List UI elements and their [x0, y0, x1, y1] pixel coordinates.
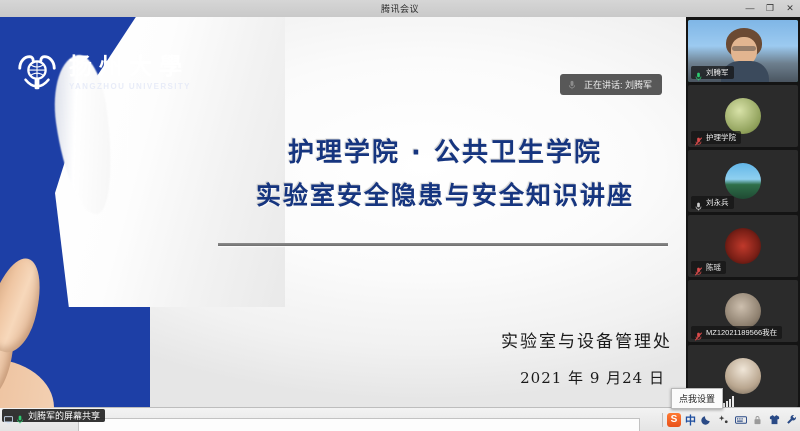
participant-name-badge: 刘永兵 [691, 196, 734, 209]
moon-icon[interactable] [700, 413, 713, 426]
participant-name: 陈瑶 [706, 262, 721, 273]
shared-screen-area[interactable]: 扬州大學 YANGZHOU UNIVERSITY 护理学院 · 公共卫生学院 实… [0, 17, 686, 408]
shirt-icon[interactable] [768, 413, 781, 426]
participant-name: 刘永兵 [706, 197, 729, 208]
microphone-icon [16, 411, 25, 420]
background-window-edge [78, 418, 640, 431]
maximize-button[interactable]: ❐ [760, 0, 780, 17]
os-taskbar[interactable]: S 中 [0, 407, 800, 431]
university-name-en: YANGZHOU UNIVERSITY [69, 82, 191, 91]
microphone-muted-icon [694, 263, 703, 272]
participant-tile[interactable]: 刘腾军 [688, 20, 798, 82]
avatar [725, 163, 761, 199]
microphone-unmuted-icon [694, 68, 703, 77]
speaking-indicator: 正在讲话: 刘腾军 [560, 74, 662, 95]
window-titlebar[interactable]: 腾讯会议 — ❐ ✕ [0, 0, 800, 18]
keyboard-icon[interactable] [734, 413, 747, 426]
participant-name: MZ12021189566我在 [706, 327, 777, 338]
microphone-icon [566, 79, 577, 90]
sogou-ime-icon[interactable]: S [667, 413, 681, 427]
slide-date: 2021 年 9 月24 日 [0, 367, 665, 388]
screen-share-label: 刘腾军的屏幕共享 [28, 409, 100, 422]
participant-tile[interactable]: 陈瑶 [688, 215, 798, 277]
close-button[interactable]: ✕ [780, 0, 800, 17]
university-logo-text: 扬州大學 YANGZHOU UNIVERSITY [69, 54, 191, 91]
participant-tile[interactable]: 刘永兵 [688, 150, 798, 212]
network-signal-icon [723, 396, 734, 407]
lock-icon[interactable] [751, 413, 764, 426]
monitor-icon [4, 411, 13, 420]
system-tray[interactable]: S 中 [662, 410, 798, 429]
tray-divider [662, 413, 663, 427]
microphone-muted-icon [694, 133, 703, 142]
avatar [725, 293, 761, 329]
slide-title-block: 护理学院 · 公共卫生学院 实验室安全隐患与安全知识讲座 [210, 135, 680, 215]
window-title: 腾讯会议 [381, 2, 419, 15]
participant-name-badge: MZ12021189566我在 [691, 326, 782, 339]
speaking-indicator-label: 正在讲话: 刘腾军 [584, 78, 652, 91]
avatar [725, 228, 761, 264]
participant-rail[interactable]: 刘腾军 护理学院 [686, 17, 800, 408]
minimize-button[interactable]: — [740, 0, 760, 17]
participant-name: 护理学院 [706, 132, 736, 143]
slide-divider [218, 243, 668, 246]
microphone-muted-icon [694, 328, 703, 337]
screen-share-badge[interactable]: 刘腾军的屏幕共享 [2, 409, 105, 422]
window-controls: — ❐ ✕ [740, 0, 800, 17]
slide-title-line-1: 护理学院 · 公共卫生学院 [210, 135, 680, 171]
yangzhou-university-emblem-icon [14, 49, 60, 95]
participant-name: 刘腾军 [706, 67, 729, 78]
slide-title-line-2: 实验室安全隐患与安全知识讲座 [210, 177, 680, 215]
participant-tile[interactable]: MZ12021189566我在 [688, 280, 798, 342]
tencent-meeting-window: 腾讯会议 — ❐ ✕ [0, 0, 800, 431]
participant-name-badge: 护理学院 [691, 131, 741, 144]
university-name-cn: 扬州大學 [69, 54, 191, 80]
university-logo: 扬州大學 YANGZHOU UNIVERSITY [14, 49, 191, 95]
sparkle-icon[interactable] [717, 413, 730, 426]
participant-name-badge: 陈瑶 [691, 261, 726, 274]
avatar [725, 98, 761, 134]
participant-name-badge: 刘腾军 [691, 66, 734, 79]
participant-tile[interactable]: 护理学院 [688, 85, 798, 147]
settings-tooltip: 点我设置 [671, 388, 723, 409]
microphone-muted-icon [694, 198, 703, 207]
ime-mode-indicator[interactable]: 中 [685, 412, 696, 428]
wrench-icon[interactable] [785, 413, 798, 426]
avatar [725, 358, 761, 394]
slide-department: 实验室与设备管理处 [0, 327, 672, 352]
